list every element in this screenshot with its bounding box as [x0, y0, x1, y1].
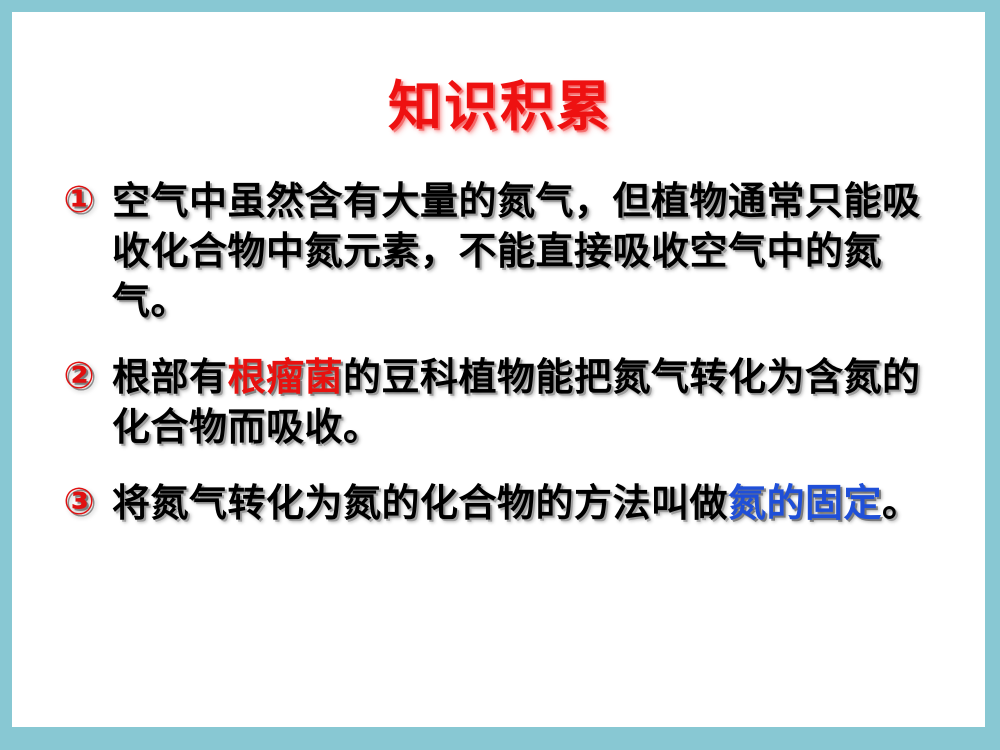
bullet-list: ① 空气中虽然含有大量的氮气，但植物通常只能吸收化合物中氮元素，不能直接吸收空气… — [56, 176, 956, 528]
bullet-run-1-0: 空气中虽然含有大量的氮气，但植物通常只能吸收化合物中氮元素，不能直接吸收空气中的… — [112, 178, 921, 323]
bullet-item-2: ② 根部有根瘤菌的豆科植物能把氮气转化为含氮的化合物而吸收。 — [56, 352, 956, 452]
bullet-item-3: ③ 将氮气转化为氮的化合物的方法叫做氮的固定。 — [56, 478, 956, 528]
bullet-text-1: 空气中虽然含有大量的氮气，但植物通常只能吸收化合物中氮元素，不能直接吸收空气中的… — [112, 176, 956, 326]
bullet-text-3: 将氮气转化为氮的化合物的方法叫做氮的固定。 — [112, 478, 956, 528]
circled-three-icon: ③ — [56, 480, 102, 526]
slide-title: 知识积累 — [0, 78, 1000, 135]
keyword-nitrogen-fixation: 氮的固定 — [728, 480, 882, 525]
bullet-run-2-0: 根部有 — [112, 354, 228, 399]
slide-border-top — [0, 0, 1000, 12]
slide-border-bottom — [0, 727, 1000, 750]
circled-one-icon: ① — [56, 178, 102, 224]
circled-two-icon: ② — [56, 354, 102, 400]
keyword-rhizobium: 根瘤菌 — [228, 354, 344, 399]
bullet-item-1: ① 空气中虽然含有大量的氮气，但植物通常只能吸收化合物中氮元素，不能直接吸收空气… — [56, 176, 956, 326]
bullet-run-3-0: 将氮气转化为氮的化合物的方法叫做 — [112, 480, 728, 525]
bullet-text-2: 根部有根瘤菌的豆科植物能把氮气转化为含氮的化合物而吸收。 — [112, 352, 956, 452]
slide-canvas: 知识积累 ① 空气中虽然含有大量的氮气，但植物通常只能吸收化合物中氮元素，不能直… — [0, 0, 1000, 750]
bullet-run-3-2: 。 — [882, 480, 921, 525]
